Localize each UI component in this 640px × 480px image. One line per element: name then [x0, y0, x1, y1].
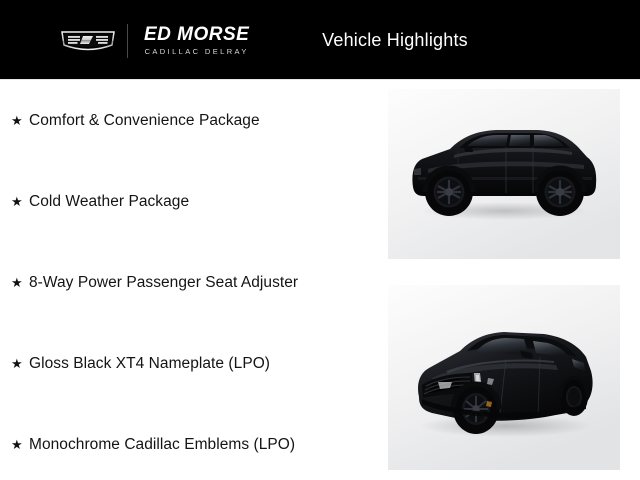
vehicle-photo-gallery: [388, 89, 620, 474]
list-item: ★ Monochrome Cadillac Emblems (LPO): [0, 435, 385, 455]
vehicle-highlights-list: ★ Comfort & Convenience Package ★ Cold W…: [0, 81, 385, 480]
page-content: ★ Comfort & Convenience Package ★ Cold W…: [0, 81, 640, 480]
star-bullet-icon: ★: [11, 111, 29, 131]
cadillac-crest-icon: [60, 28, 116, 54]
vehicle-photo-front-three-quarter[interactable]: [388, 285, 620, 470]
dealer-wordmark: ED MORSE CADILLAC DELRAY: [144, 25, 249, 58]
page-header: ED MORSE CADILLAC DELRAY Vehicle Highlig…: [0, 0, 640, 80]
list-item: ★ Comfort & Convenience Package: [0, 111, 385, 131]
list-item-label: 8-Way Power Passenger Seat Adjuster: [29, 273, 298, 293]
brand-divider: [127, 24, 128, 58]
vehicle-highlights-page: ED MORSE CADILLAC DELRAY Vehicle Highlig…: [0, 0, 640, 480]
dealer-name-primary: ED MORSE: [144, 25, 249, 45]
vehicle-photo-side-profile[interactable]: [388, 89, 620, 259]
star-bullet-icon: ★: [11, 354, 29, 374]
list-item-label: Cold Weather Package: [29, 192, 189, 212]
dealer-name-secondary: CADILLAC DELRAY: [145, 46, 249, 58]
list-item-label: Gloss Black XT4 Nameplate (LPO): [29, 354, 270, 374]
list-item: ★ 8-Way Power Passenger Seat Adjuster: [0, 273, 385, 293]
list-item: ★ Cold Weather Package: [0, 192, 385, 212]
list-item: ★ Gloss Black XT4 Nameplate (LPO): [0, 354, 385, 374]
star-bullet-icon: ★: [11, 273, 29, 293]
list-item-label: Monochrome Cadillac Emblems (LPO): [29, 435, 295, 455]
list-item-label: Comfort & Convenience Package: [29, 111, 260, 131]
star-bullet-icon: ★: [11, 435, 29, 455]
star-bullet-icon: ★: [11, 192, 29, 212]
dealer-brand-logo[interactable]: ED MORSE CADILLAC DELRAY: [60, 20, 249, 62]
